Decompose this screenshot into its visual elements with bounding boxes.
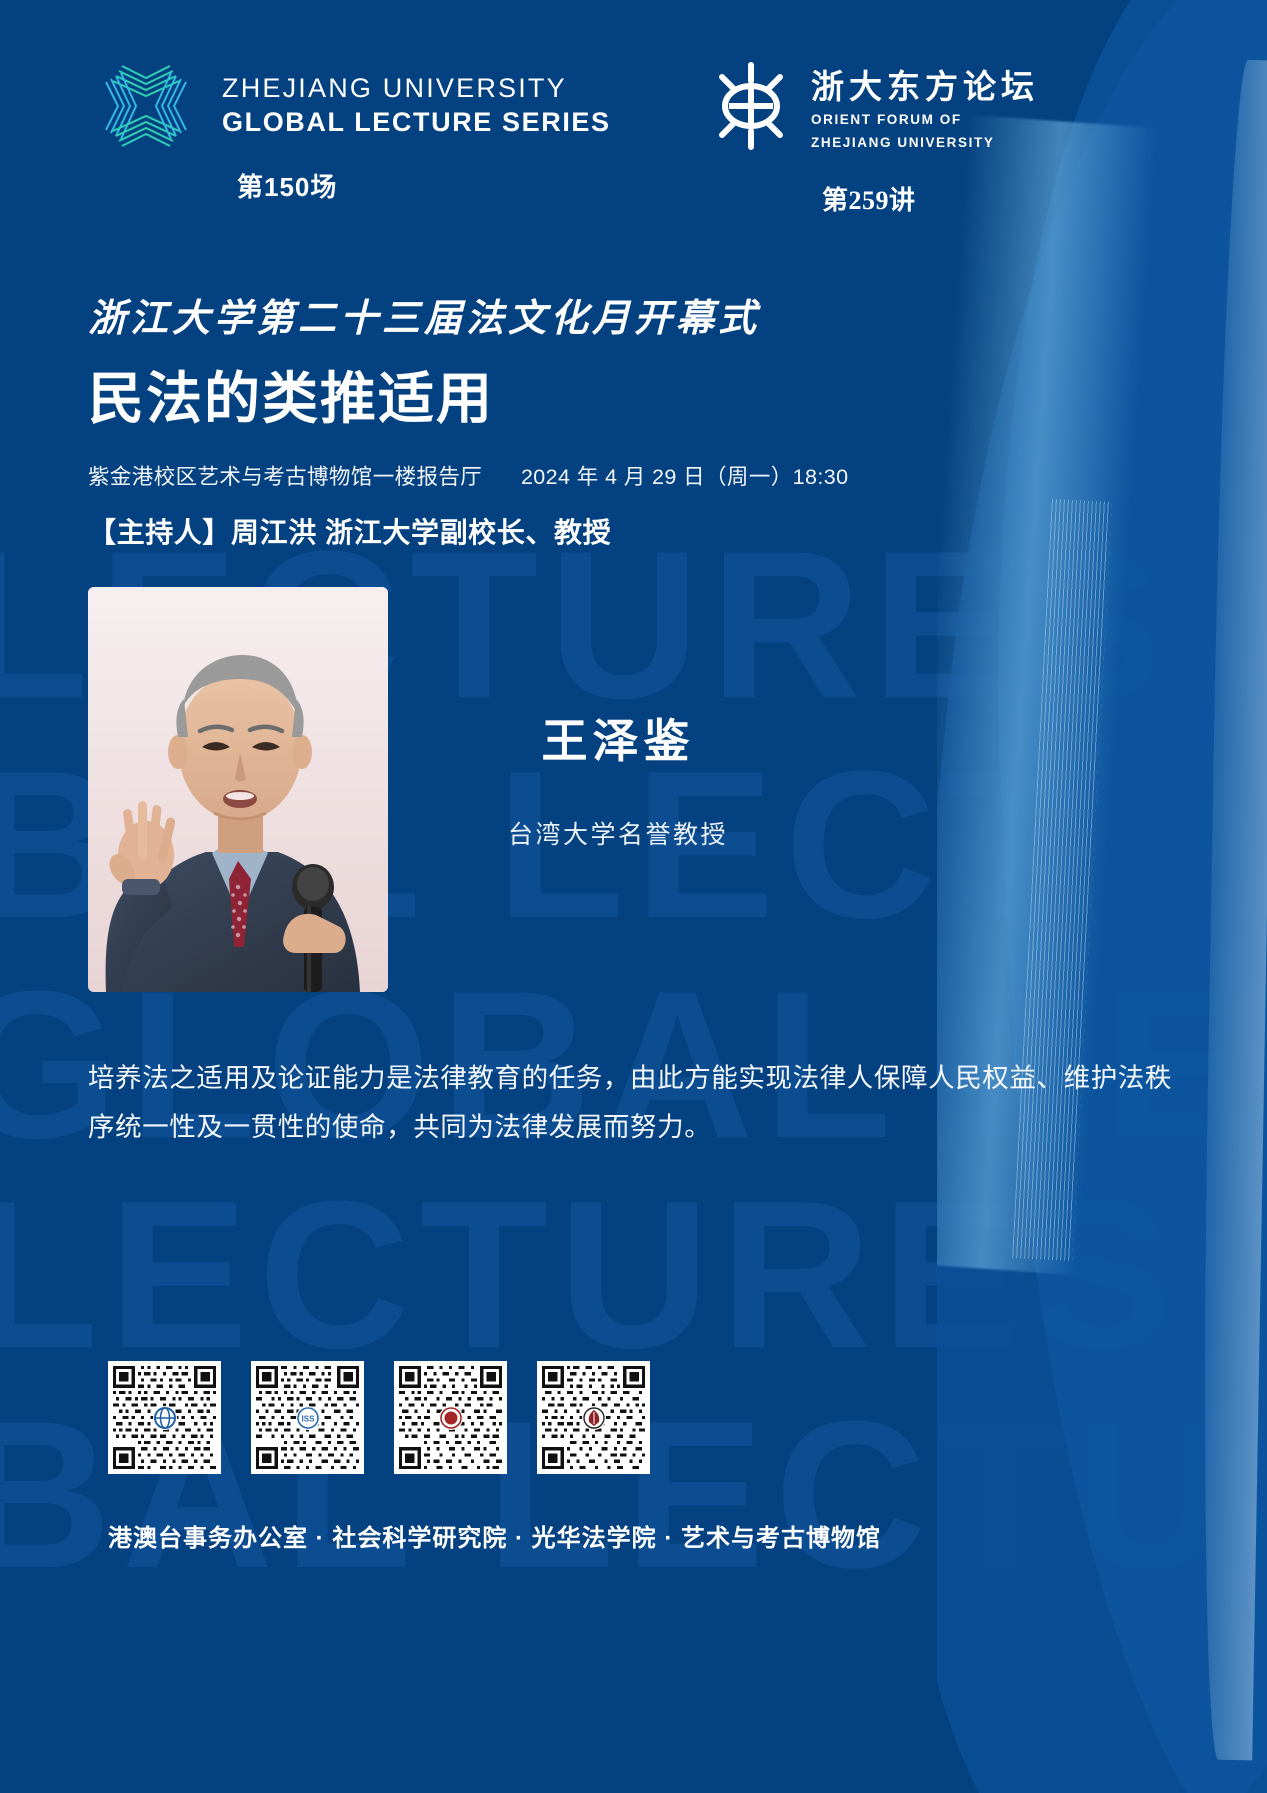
qr-globe-center-icon xyxy=(153,1406,177,1430)
speaker-portrait-photo-icon xyxy=(88,587,388,992)
host-line: 【主持人】周江洪 浙江大学副校长、教授 xyxy=(88,511,1267,551)
zju-logo-line2: GLOBAL LECTURE SERIES xyxy=(222,105,611,140)
zju-logo-line1: ZHEJIANG UNIVERSITY xyxy=(222,72,611,106)
quote-text: 培养法之适用及论证能力是法律教育的任务，由此方能实现法律人保障人民权益、维护法秩… xyxy=(88,1054,1178,1152)
qr-code-guanghua-law-icon[interactable] xyxy=(394,1361,507,1474)
qr-iss-center-icon: ISS xyxy=(296,1406,320,1430)
orient-forum-title-en-line1: ORIENT FORUM OF xyxy=(811,111,1039,129)
series-title: 浙江大学第二十三届法文化月开幕式 xyxy=(88,287,1267,342)
zju-global-lecture-ring-logo-icon xyxy=(92,52,200,160)
speaker-name: 王泽鉴 xyxy=(508,705,728,771)
svg-text:ISS: ISS xyxy=(301,1414,315,1423)
qr-museum-center-icon xyxy=(582,1406,606,1430)
orient-forum-logo-block: 浙大东方论坛 ORIENT FORUM OF ZHEJIANG UNIVERSI… xyxy=(705,60,1039,152)
orient-session-number: 第259讲 xyxy=(822,180,916,217)
venue-text: 紫金港校区艺术与考古博物馆一楼报告厅 xyxy=(88,465,482,489)
qr-code-row: ISS xyxy=(108,1361,650,1474)
organizations-line: 港澳台事务办公室 · 社会科学研究院 · 光华法学院 · 艺术与考古博物馆 xyxy=(108,1518,881,1553)
orient-forum-title-cn: 浙大东方论坛 xyxy=(811,68,1039,106)
zju-logo-block: ZHEJIANG UNIVERSITY GLOBAL LECTURE SERIE… xyxy=(92,52,611,160)
zju-logo-text: ZHEJIANG UNIVERSITY GLOBAL LECTURE SERIE… xyxy=(222,72,611,141)
speaker-info: 王泽鉴 台湾大学名誉教授 xyxy=(508,587,728,851)
orient-forum-title-en-line2: ZHEJIANG UNIVERSITY xyxy=(811,134,1039,152)
lecture-title: 民法的类推适用 xyxy=(88,368,1267,430)
qr-code-globe-icon[interactable] xyxy=(108,1361,221,1474)
orient-forum-sun-logo-icon xyxy=(705,60,797,152)
venue-datetime-row: 紫金港校区艺术与考古博物馆一楼报告厅 2024 年 4 月 29 日（周一）18… xyxy=(88,460,1267,491)
zju-session-number: 第150场 xyxy=(237,167,337,204)
datetime-text: 2024 年 4 月 29 日（周一）18:30 xyxy=(521,465,848,489)
orient-forum-logo-text: 浙大东方论坛 ORIENT FORUM OF ZHEJIANG UNIVERSI… xyxy=(811,60,1039,152)
poster-header: ZHEJIANG UNIVERSITY GLOBAL LECTURE SERIE… xyxy=(0,0,1267,235)
speaker-block: 王泽鉴 台湾大学名誉教授 xyxy=(88,587,1267,992)
qr-code-iss-icon[interactable]: ISS xyxy=(251,1361,364,1474)
qr-guanghua-law-center-icon xyxy=(439,1406,463,1430)
qr-code-museum-icon[interactable] xyxy=(537,1361,650,1474)
speaker-affiliation: 台湾大学名誉教授 xyxy=(508,815,728,851)
